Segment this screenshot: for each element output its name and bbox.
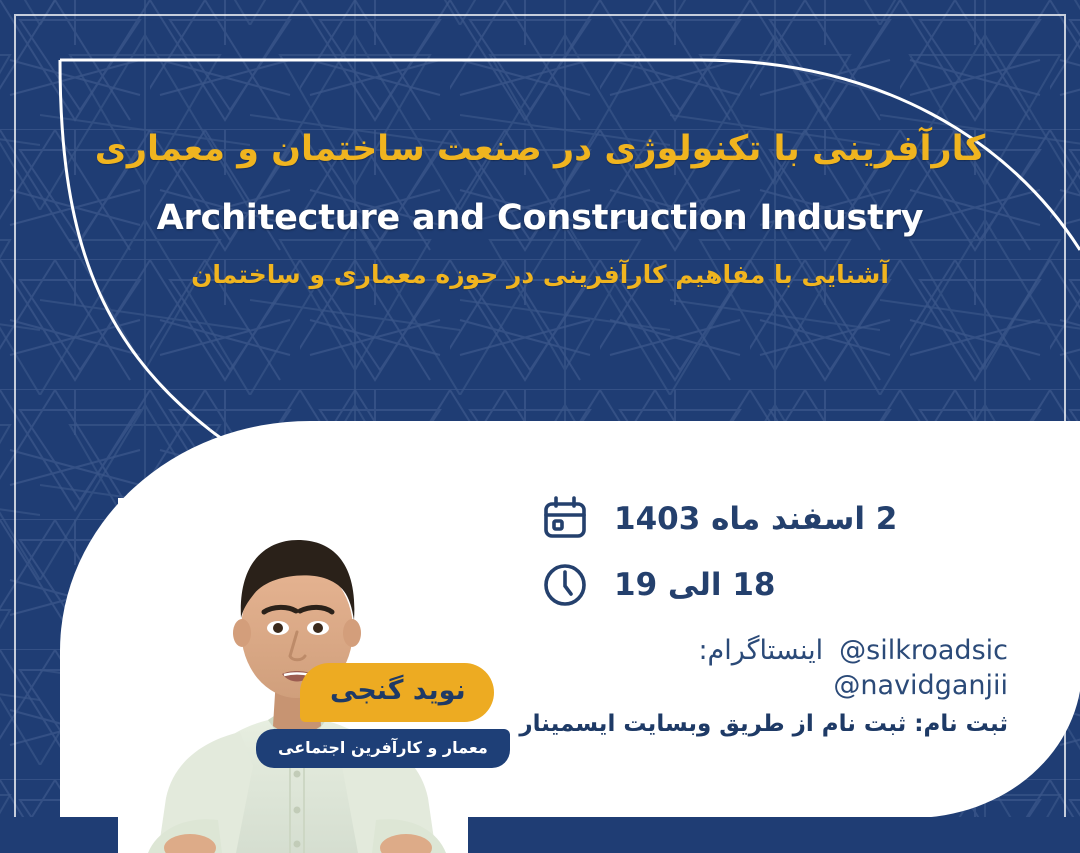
- speaker-name-badge: نوید گنجی: [300, 663, 494, 722]
- event-time: 18 الی 19: [614, 567, 776, 603]
- title-persian: کارآفرینی با تکنولوژی در صنعت ساختمان و …: [0, 128, 1080, 172]
- speaker-role-badge: معمار و کارآفرین اجتماعی: [256, 729, 510, 768]
- instagram-line-1: @silkroadsicاینستاگرام:: [538, 634, 1008, 669]
- instagram-label: اینستاگرام:: [698, 635, 823, 666]
- social-block: @silkroadsicاینستاگرام: @navidganjii: [538, 634, 1008, 703]
- poster-headings: کارآفرینی با تکنولوژی در صنعت ساختمان و …: [0, 128, 1080, 289]
- date-row: 2 اسفند ماه 1403: [538, 492, 1008, 546]
- instagram-handle-secondary[interactable]: @navidganjii: [538, 669, 1008, 704]
- title-english: Architecture and Construction Industry: [0, 198, 1080, 238]
- seminar-poster: کارآفرینی با تکنولوژی در صنعت ساختمان و …: [0, 0, 1080, 853]
- registration-note: ثبت نام: ثبت نام از طریق وبسایت ایسمینار: [538, 711, 1008, 737]
- speaker-name: نوید گنجی: [330, 675, 466, 706]
- calendar-icon: [538, 492, 592, 546]
- time-row: 18 الی 19: [538, 558, 1008, 612]
- event-date: 2 اسفند ماه 1403: [614, 501, 897, 537]
- speaker-role: معمار و کارآفرین اجتماعی: [278, 738, 488, 757]
- event-info: 2 اسفند ماه 1403 18 الی 19 @silkroadsicا…: [538, 492, 1008, 737]
- subtitle-persian: آشنایی با مفاهیم کارآفرینی در حوزه معمار…: [0, 260, 1080, 289]
- clock-icon: [538, 558, 592, 612]
- instagram-handle-primary[interactable]: @silkroadsic: [839, 634, 1008, 669]
